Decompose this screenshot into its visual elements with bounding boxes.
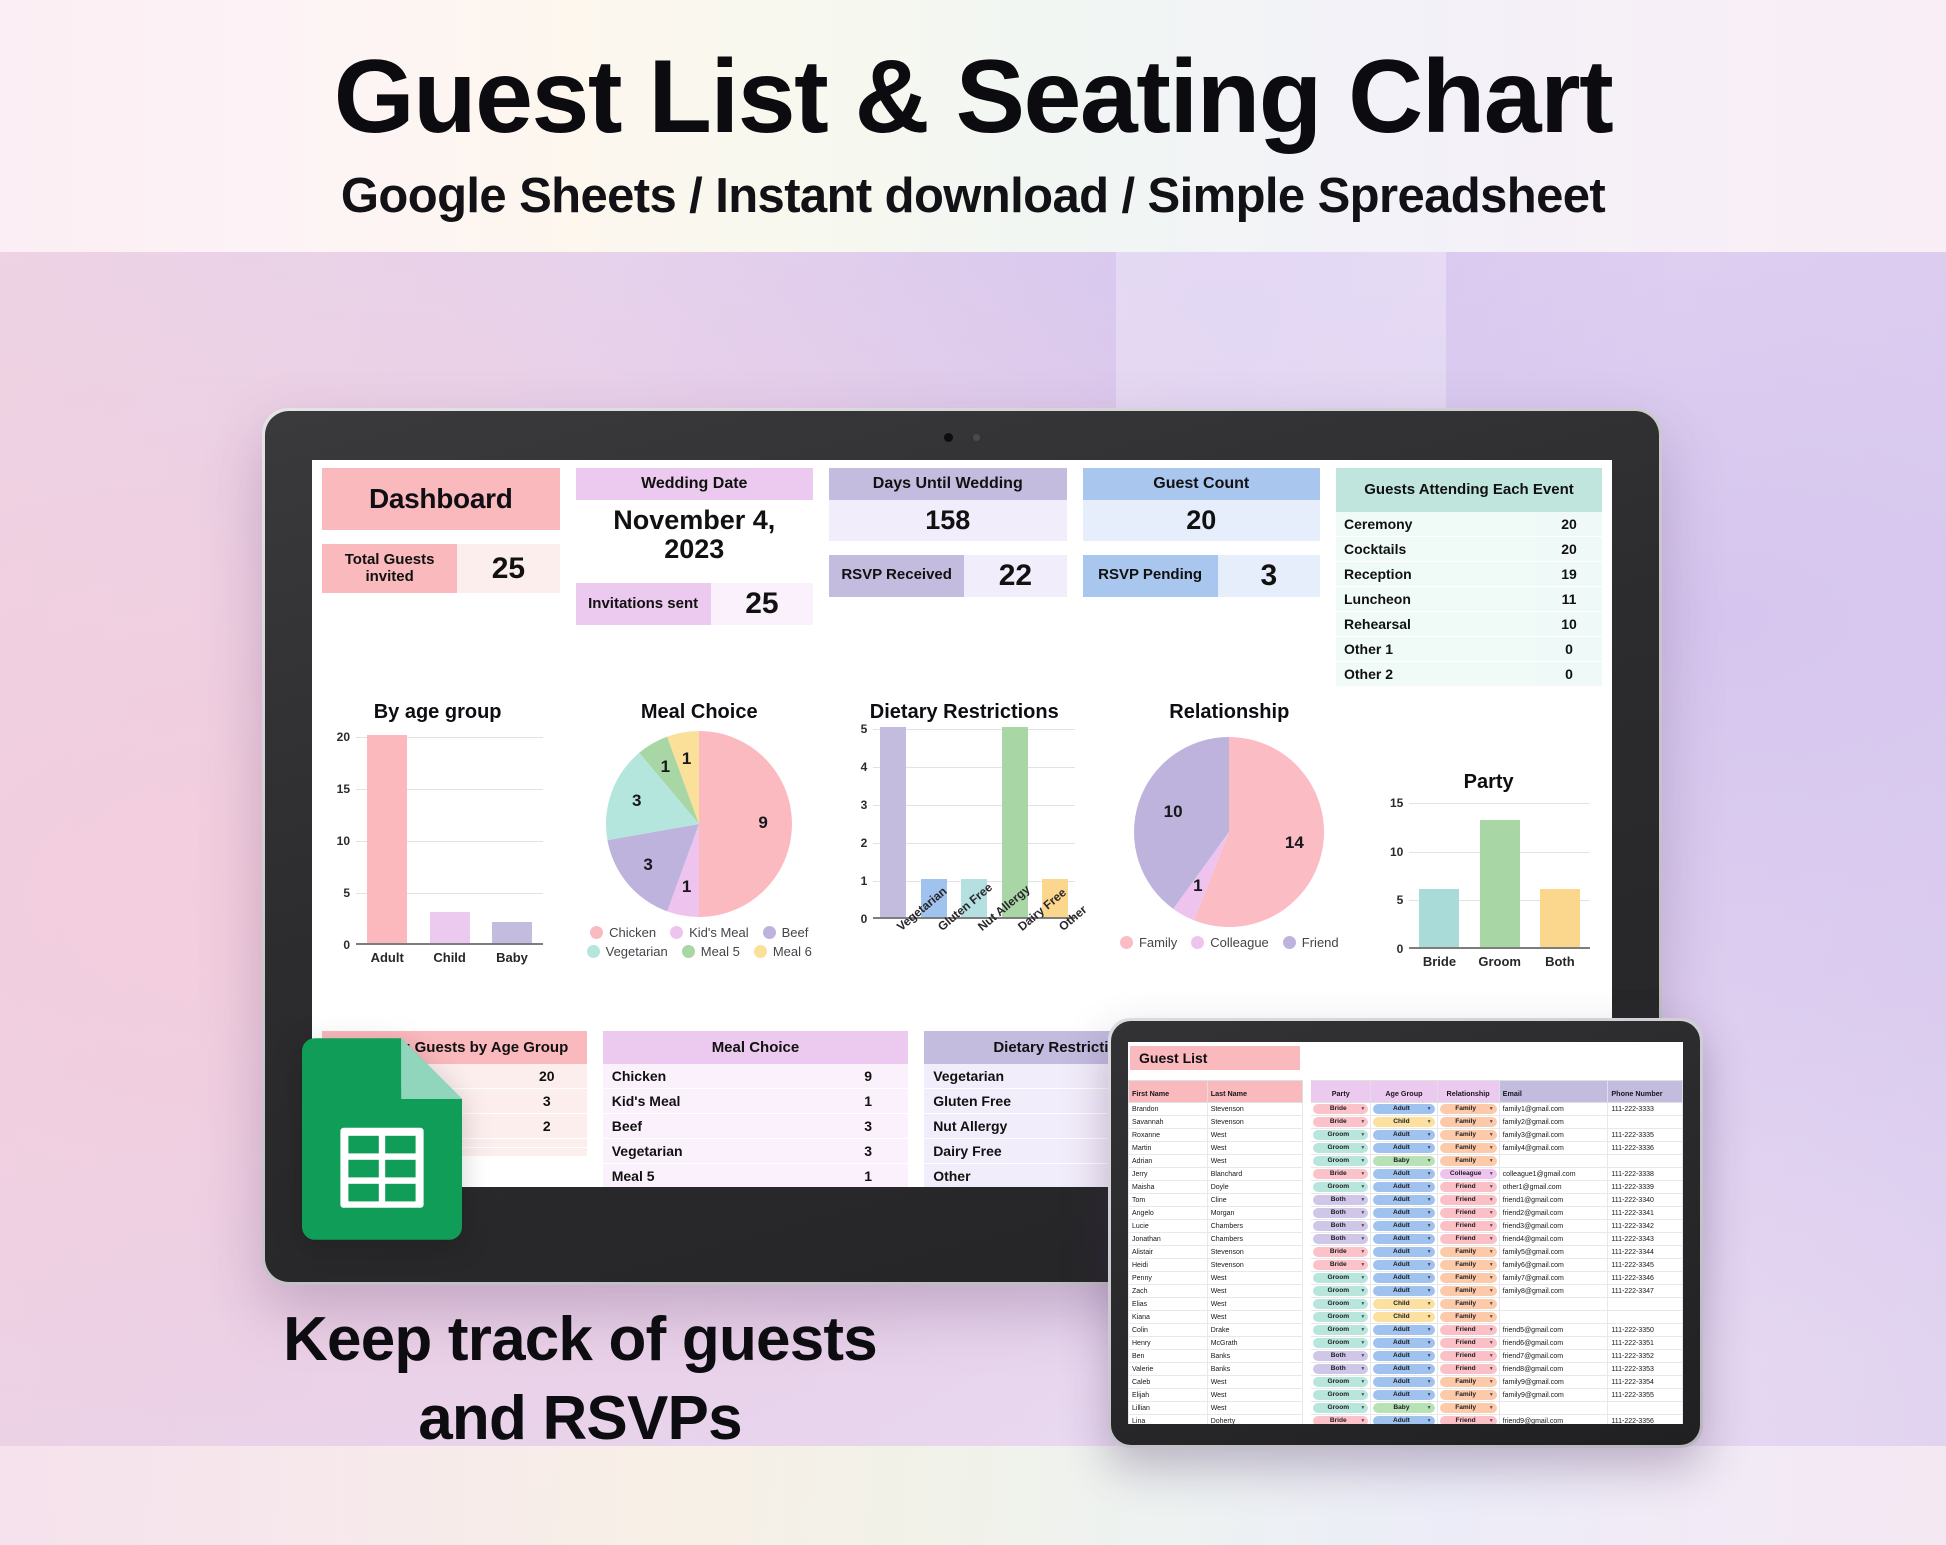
- chevron-down-icon[interactable]: ▼: [1489, 1351, 1494, 1361]
- chevron-down-icon[interactable]: ▼: [1489, 1312, 1494, 1322]
- table-cell[interactable]: 111-222-3339: [1608, 1181, 1683, 1194]
- chevron-down-icon[interactable]: ▼: [1427, 1195, 1432, 1205]
- dropdown-cell[interactable]: Groom▼: [1311, 1337, 1371, 1350]
- chevron-down-icon[interactable]: ▼: [1489, 1273, 1494, 1283]
- chevron-down-icon[interactable]: ▼: [1489, 1117, 1494, 1127]
- dropdown-chip[interactable]: Family▼: [1440, 1286, 1497, 1296]
- dropdown-chip[interactable]: Adult▼: [1373, 1273, 1434, 1283]
- chevron-down-icon[interactable]: ▼: [1360, 1286, 1365, 1296]
- table-cell[interactable]: West: [1207, 1272, 1302, 1285]
- dropdown-chip[interactable]: Adult▼: [1373, 1182, 1434, 1192]
- table-cell[interactable]: family3@gmail.com: [1499, 1129, 1608, 1142]
- dropdown-cell[interactable]: Family▼: [1437, 1259, 1499, 1272]
- dropdown-chip[interactable]: Friend▼: [1440, 1416, 1497, 1424]
- chevron-down-icon[interactable]: ▼: [1360, 1130, 1365, 1140]
- table-cell[interactable]: McGrath: [1207, 1337, 1302, 1350]
- dropdown-cell[interactable]: Both▼: [1311, 1363, 1371, 1376]
- table-row[interactable]: ValerieBanksBoth▼Adult▼Friend▼friend8@gm…: [1129, 1363, 1683, 1376]
- table-cell[interactable]: Colin: [1129, 1324, 1208, 1337]
- table-cell[interactable]: Adrian: [1129, 1155, 1208, 1168]
- dropdown-cell[interactable]: Adult▼: [1371, 1181, 1437, 1194]
- chevron-down-icon[interactable]: ▼: [1360, 1143, 1365, 1153]
- table-cell[interactable]: Brandon: [1129, 1103, 1208, 1116]
- dropdown-chip[interactable]: Family▼: [1440, 1117, 1497, 1127]
- chevron-down-icon[interactable]: ▼: [1360, 1182, 1365, 1192]
- table-cell[interactable]: 111-222-3354: [1608, 1376, 1683, 1389]
- table-cell[interactable]: Chambers: [1207, 1220, 1302, 1233]
- table-cell[interactable]: Lucie: [1129, 1220, 1208, 1233]
- chevron-down-icon[interactable]: ▼: [1427, 1325, 1432, 1335]
- dropdown-chip[interactable]: Adult▼: [1373, 1143, 1434, 1153]
- chevron-down-icon[interactable]: ▼: [1427, 1182, 1432, 1192]
- dropdown-chip[interactable]: Family▼: [1440, 1377, 1497, 1387]
- dropdown-chip[interactable]: Groom▼: [1313, 1182, 1368, 1192]
- table-cell[interactable]: Martin: [1129, 1142, 1208, 1155]
- table-cell[interactable]: Lina: [1129, 1415, 1208, 1425]
- dropdown-cell[interactable]: Child▼: [1371, 1116, 1437, 1129]
- chevron-down-icon[interactable]: ▼: [1489, 1377, 1494, 1387]
- dropdown-cell[interactable]: Friend▼: [1437, 1181, 1499, 1194]
- table-cell[interactable]: [1608, 1298, 1683, 1311]
- table-row[interactable]: MartinWestGroom▼Adult▼Family▼family4@gma…: [1129, 1142, 1683, 1155]
- table-cell[interactable]: Stevenson: [1207, 1103, 1302, 1116]
- table-cell[interactable]: Doherty: [1207, 1415, 1302, 1425]
- dropdown-chip[interactable]: Family▼: [1440, 1312, 1497, 1322]
- dropdown-cell[interactable]: Both▼: [1311, 1207, 1371, 1220]
- dropdown-chip[interactable]: Adult▼: [1373, 1286, 1434, 1296]
- chevron-down-icon[interactable]: ▼: [1489, 1416, 1494, 1424]
- table-cell[interactable]: Elias: [1129, 1298, 1208, 1311]
- table-cell[interactable]: friend9@gmail.com: [1499, 1415, 1608, 1425]
- table-cell[interactable]: 111-222-3353: [1608, 1363, 1683, 1376]
- dropdown-chip[interactable]: Adult▼: [1373, 1377, 1434, 1387]
- table-cell[interactable]: Savannah: [1129, 1116, 1208, 1129]
- dropdown-chip[interactable]: Family▼: [1440, 1104, 1497, 1114]
- dropdown-chip[interactable]: Bride▼: [1313, 1247, 1368, 1257]
- table-cell[interactable]: West: [1207, 1402, 1302, 1415]
- table-cell[interactable]: Caleb: [1129, 1376, 1208, 1389]
- chevron-down-icon[interactable]: ▼: [1427, 1351, 1432, 1361]
- chevron-down-icon[interactable]: ▼: [1427, 1117, 1432, 1127]
- chevron-down-icon[interactable]: ▼: [1360, 1234, 1365, 1244]
- table-cell[interactable]: Cline: [1207, 1194, 1302, 1207]
- dropdown-cell[interactable]: Adult▼: [1371, 1129, 1437, 1142]
- table-cell[interactable]: [1499, 1298, 1608, 1311]
- dropdown-chip[interactable]: Family▼: [1440, 1130, 1497, 1140]
- table-cell[interactable]: friend3@gmail.com: [1499, 1220, 1608, 1233]
- table-cell[interactable]: colleague1@gmail.com: [1499, 1168, 1608, 1181]
- table-row[interactable]: JonathanChambersBoth▼Adult▼Friend▼friend…: [1129, 1233, 1683, 1246]
- table-cell[interactable]: 111-222-3350: [1608, 1324, 1683, 1337]
- dropdown-cell[interactable]: Adult▼: [1371, 1415, 1437, 1425]
- dropdown-chip[interactable]: Child▼: [1373, 1312, 1434, 1322]
- table-cell[interactable]: Jonathan: [1129, 1233, 1208, 1246]
- table-row[interactable]: BenBanksBoth▼Adult▼Friend▼friend7@gmail.…: [1129, 1350, 1683, 1363]
- chevron-down-icon[interactable]: ▼: [1427, 1130, 1432, 1140]
- table-cell[interactable]: friend7@gmail.com: [1499, 1350, 1608, 1363]
- table-cell[interactable]: 111-222-3345: [1608, 1259, 1683, 1272]
- chevron-down-icon[interactable]: ▼: [1489, 1364, 1494, 1374]
- chevron-down-icon[interactable]: ▼: [1427, 1143, 1432, 1153]
- dropdown-chip[interactable]: Groom▼: [1313, 1403, 1368, 1413]
- chevron-down-icon[interactable]: ▼: [1489, 1247, 1494, 1257]
- table-cell[interactable]: friend2@gmail.com: [1499, 1207, 1608, 1220]
- dropdown-cell[interactable]: Baby▼: [1371, 1155, 1437, 1168]
- dropdown-cell[interactable]: Adult▼: [1371, 1376, 1437, 1389]
- table-cell[interactable]: 111-222-3347: [1608, 1285, 1683, 1298]
- chevron-down-icon[interactable]: ▼: [1489, 1221, 1494, 1231]
- table-cell[interactable]: West: [1207, 1389, 1302, 1402]
- column-header[interactable]: First Name: [1129, 1081, 1208, 1103]
- dropdown-chip[interactable]: Groom▼: [1313, 1299, 1368, 1309]
- dropdown-chip[interactable]: Bride▼: [1313, 1104, 1368, 1114]
- chevron-down-icon[interactable]: ▼: [1360, 1260, 1365, 1270]
- table-cell[interactable]: [1499, 1402, 1608, 1415]
- dropdown-chip[interactable]: Adult▼: [1373, 1351, 1434, 1361]
- dropdown-chip[interactable]: Baby▼: [1373, 1156, 1434, 1166]
- table-cell[interactable]: friend4@gmail.com: [1499, 1233, 1608, 1246]
- table-cell[interactable]: family4@gmail.com: [1499, 1142, 1608, 1155]
- dropdown-chip[interactable]: Adult▼: [1373, 1325, 1434, 1335]
- chevron-down-icon[interactable]: ▼: [1427, 1156, 1432, 1166]
- table-cell[interactable]: Chambers: [1207, 1233, 1302, 1246]
- chevron-down-icon[interactable]: ▼: [1427, 1247, 1432, 1257]
- dropdown-chip[interactable]: Adult▼: [1373, 1390, 1434, 1400]
- dropdown-chip[interactable]: Family▼: [1440, 1143, 1497, 1153]
- table-cell[interactable]: family5@gmail.com: [1499, 1246, 1608, 1259]
- chevron-down-icon[interactable]: ▼: [1489, 1325, 1494, 1335]
- table-cell[interactable]: Tom: [1129, 1194, 1208, 1207]
- dropdown-cell[interactable]: Family▼: [1437, 1155, 1499, 1168]
- chevron-down-icon[interactable]: ▼: [1360, 1247, 1365, 1257]
- chevron-down-icon[interactable]: ▼: [1360, 1312, 1365, 1322]
- chevron-down-icon[interactable]: ▼: [1360, 1325, 1365, 1335]
- table-cell[interactable]: 111-222-3341: [1608, 1207, 1683, 1220]
- table-cell[interactable]: 111-222-3335: [1608, 1129, 1683, 1142]
- table-cell[interactable]: [1499, 1311, 1608, 1324]
- table-row[interactable]: LucieChambersBoth▼Adult▼Friend▼friend3@g…: [1129, 1220, 1683, 1233]
- dropdown-cell[interactable]: Groom▼: [1311, 1129, 1371, 1142]
- table-cell[interactable]: Heidi: [1129, 1259, 1208, 1272]
- table-cell[interactable]: Doyle: [1207, 1181, 1302, 1194]
- table-cell[interactable]: [1608, 1116, 1683, 1129]
- dropdown-chip[interactable]: Groom▼: [1313, 1377, 1368, 1387]
- dropdown-chip[interactable]: Adult▼: [1373, 1195, 1434, 1205]
- chevron-down-icon[interactable]: ▼: [1489, 1130, 1494, 1140]
- table-row[interactable]: AlistairStevensonBride▼Adult▼Family▼fami…: [1129, 1246, 1683, 1259]
- table-cell[interactable]: 111-222-3333: [1608, 1103, 1683, 1116]
- table-cell[interactable]: 111-222-3352: [1608, 1350, 1683, 1363]
- dropdown-cell[interactable]: Groom▼: [1311, 1285, 1371, 1298]
- dropdown-cell[interactable]: Adult▼: [1371, 1285, 1437, 1298]
- dropdown-chip[interactable]: Both▼: [1313, 1221, 1368, 1231]
- column-header[interactable]: Relationship: [1437, 1081, 1499, 1103]
- chevron-down-icon[interactable]: ▼: [1427, 1299, 1432, 1309]
- table-cell[interactable]: Kiana: [1129, 1311, 1208, 1324]
- dropdown-cell[interactable]: Adult▼: [1371, 1220, 1437, 1233]
- dropdown-cell[interactable]: Adult▼: [1371, 1233, 1437, 1246]
- column-header[interactable]: Email: [1499, 1081, 1608, 1103]
- chevron-down-icon[interactable]: ▼: [1489, 1143, 1494, 1153]
- dropdown-cell[interactable]: Friend▼: [1437, 1207, 1499, 1220]
- table-cell[interactable]: Elijah: [1129, 1389, 1208, 1402]
- table-row[interactable]: JerryBlanchardBride▼Adult▼Colleague▼coll…: [1129, 1168, 1683, 1181]
- table-cell[interactable]: Banks: [1207, 1363, 1302, 1376]
- table-cell[interactable]: 111-222-3356: [1608, 1415, 1683, 1425]
- chevron-down-icon[interactable]: ▼: [1360, 1299, 1365, 1309]
- dropdown-chip[interactable]: Colleague▼: [1440, 1169, 1497, 1179]
- dropdown-cell[interactable]: Family▼: [1437, 1246, 1499, 1259]
- table-cell[interactable]: West: [1207, 1285, 1302, 1298]
- dropdown-cell[interactable]: Adult▼: [1371, 1103, 1437, 1116]
- dropdown-cell[interactable]: Groom▼: [1311, 1389, 1371, 1402]
- dropdown-cell[interactable]: Adult▼: [1371, 1350, 1437, 1363]
- table-row[interactable]: AdrianWestGroom▼Baby▼Family▼: [1129, 1155, 1683, 1168]
- table-cell[interactable]: family7@gmail.com: [1499, 1272, 1608, 1285]
- chevron-down-icon[interactable]: ▼: [1360, 1377, 1365, 1387]
- dropdown-chip[interactable]: Adult▼: [1373, 1169, 1434, 1179]
- chevron-down-icon[interactable]: ▼: [1489, 1403, 1494, 1413]
- dropdown-cell[interactable]: Groom▼: [1311, 1142, 1371, 1155]
- dropdown-cell[interactable]: Groom▼: [1311, 1402, 1371, 1415]
- dropdown-cell[interactable]: Adult▼: [1371, 1142, 1437, 1155]
- dropdown-chip[interactable]: Groom▼: [1313, 1338, 1368, 1348]
- dropdown-cell[interactable]: Family▼: [1437, 1142, 1499, 1155]
- table-cell[interactable]: family6@gmail.com: [1499, 1259, 1608, 1272]
- dropdown-cell[interactable]: Adult▼: [1371, 1272, 1437, 1285]
- dropdown-chip[interactable]: Both▼: [1313, 1208, 1368, 1218]
- dropdown-chip[interactable]: Bride▼: [1313, 1260, 1368, 1270]
- dropdown-chip[interactable]: Groom▼: [1313, 1273, 1368, 1283]
- dropdown-chip[interactable]: Adult▼: [1373, 1247, 1434, 1257]
- table-cell[interactable]: Banks: [1207, 1350, 1302, 1363]
- table-row[interactable]: TomClineBoth▼Adult▼Friend▼friend1@gmail.…: [1129, 1194, 1683, 1207]
- dropdown-chip[interactable]: Friend▼: [1440, 1234, 1497, 1244]
- dropdown-cell[interactable]: Groom▼: [1311, 1272, 1371, 1285]
- chevron-down-icon[interactable]: ▼: [1489, 1208, 1494, 1218]
- dropdown-cell[interactable]: Bride▼: [1311, 1103, 1371, 1116]
- dropdown-chip[interactable]: Family▼: [1440, 1390, 1497, 1400]
- dropdown-cell[interactable]: Family▼: [1437, 1285, 1499, 1298]
- table-cell[interactable]: Valerie: [1129, 1363, 1208, 1376]
- table-cell[interactable]: Lillian: [1129, 1402, 1208, 1415]
- table-cell[interactable]: Drake: [1207, 1324, 1302, 1337]
- table-cell[interactable]: West: [1207, 1376, 1302, 1389]
- dropdown-chip[interactable]: Friend▼: [1440, 1338, 1497, 1348]
- dropdown-cell[interactable]: Both▼: [1311, 1220, 1371, 1233]
- table-row[interactable]: HeidiStevensonBride▼Adult▼Family▼family6…: [1129, 1259, 1683, 1272]
- dropdown-chip[interactable]: Friend▼: [1440, 1325, 1497, 1335]
- chevron-down-icon[interactable]: ▼: [1427, 1104, 1432, 1114]
- chevron-down-icon[interactable]: ▼: [1427, 1364, 1432, 1374]
- table-row[interactable]: ColinDrakeGroom▼Adult▼Friend▼friend5@gma…: [1129, 1324, 1683, 1337]
- chevron-down-icon[interactable]: ▼: [1427, 1221, 1432, 1231]
- dropdown-cell[interactable]: Adult▼: [1371, 1324, 1437, 1337]
- dropdown-chip[interactable]: Adult▼: [1373, 1234, 1434, 1244]
- chevron-down-icon[interactable]: ▼: [1427, 1169, 1432, 1179]
- dropdown-cell[interactable]: Adult▼: [1371, 1246, 1437, 1259]
- chevron-down-icon[interactable]: ▼: [1489, 1195, 1494, 1205]
- chevron-down-icon[interactable]: ▼: [1489, 1156, 1494, 1166]
- table-row[interactable]: LinaDohertyBride▼Adult▼Friend▼friend9@gm…: [1129, 1415, 1683, 1425]
- table-cell[interactable]: [1499, 1155, 1608, 1168]
- dropdown-chip[interactable]: Bride▼: [1313, 1169, 1368, 1179]
- table-cell[interactable]: West: [1207, 1298, 1302, 1311]
- dropdown-cell[interactable]: Bride▼: [1311, 1116, 1371, 1129]
- chevron-down-icon[interactable]: ▼: [1360, 1338, 1365, 1348]
- chevron-down-icon[interactable]: ▼: [1360, 1390, 1365, 1400]
- chevron-down-icon[interactable]: ▼: [1360, 1403, 1365, 1413]
- dropdown-cell[interactable]: Adult▼: [1371, 1194, 1437, 1207]
- dropdown-chip[interactable]: Adult▼: [1373, 1221, 1434, 1231]
- chevron-down-icon[interactable]: ▼: [1427, 1286, 1432, 1296]
- dropdown-chip[interactable]: Groom▼: [1313, 1143, 1368, 1153]
- table-row[interactable]: HenryMcGrathGroom▼Adult▼Friend▼friend6@g…: [1129, 1337, 1683, 1350]
- dropdown-cell[interactable]: Family▼: [1437, 1376, 1499, 1389]
- table-cell[interactable]: Morgan: [1207, 1207, 1302, 1220]
- dropdown-cell[interactable]: Baby▼: [1371, 1402, 1437, 1415]
- table-cell[interactable]: [1608, 1402, 1683, 1415]
- chevron-down-icon[interactable]: ▼: [1489, 1169, 1494, 1179]
- table-cell[interactable]: West: [1207, 1155, 1302, 1168]
- table-cell[interactable]: Zach: [1129, 1285, 1208, 1298]
- dropdown-chip[interactable]: Baby▼: [1373, 1403, 1434, 1413]
- table-cell[interactable]: family2@gmail.com: [1499, 1116, 1608, 1129]
- chevron-down-icon[interactable]: ▼: [1360, 1104, 1365, 1114]
- dropdown-chip[interactable]: Child▼: [1373, 1117, 1434, 1127]
- table-row[interactable]: RoxanneWestGroom▼Adult▼Family▼family3@gm…: [1129, 1129, 1683, 1142]
- chevron-down-icon[interactable]: ▼: [1360, 1117, 1365, 1127]
- dropdown-chip[interactable]: Family▼: [1440, 1273, 1497, 1283]
- dropdown-cell[interactable]: Both▼: [1311, 1350, 1371, 1363]
- dropdown-chip[interactable]: Adult▼: [1373, 1208, 1434, 1218]
- dropdown-chip[interactable]: Family▼: [1440, 1260, 1497, 1270]
- table-cell[interactable]: [1608, 1155, 1683, 1168]
- chevron-down-icon[interactable]: ▼: [1360, 1273, 1365, 1283]
- chevron-down-icon[interactable]: ▼: [1360, 1416, 1365, 1424]
- table-cell[interactable]: family1@gmail.com: [1499, 1103, 1608, 1116]
- dropdown-chip[interactable]: Friend▼: [1440, 1221, 1497, 1231]
- dropdown-chip[interactable]: Adult▼: [1373, 1364, 1434, 1374]
- dropdown-cell[interactable]: Friend▼: [1437, 1324, 1499, 1337]
- table-row[interactable]: ElijahWestGroom▼Adult▼Family▼family9@gma…: [1129, 1389, 1683, 1402]
- dropdown-chip[interactable]: Family▼: [1440, 1247, 1497, 1257]
- dropdown-chip[interactable]: Friend▼: [1440, 1182, 1497, 1192]
- chevron-down-icon[interactable]: ▼: [1360, 1195, 1365, 1205]
- dropdown-cell[interactable]: Friend▼: [1437, 1415, 1499, 1425]
- chevron-down-icon[interactable]: ▼: [1427, 1338, 1432, 1348]
- dropdown-chip[interactable]: Adult▼: [1373, 1104, 1434, 1114]
- dropdown-cell[interactable]: Groom▼: [1311, 1324, 1371, 1337]
- dropdown-cell[interactable]: Family▼: [1437, 1389, 1499, 1402]
- dropdown-cell[interactable]: Family▼: [1437, 1129, 1499, 1142]
- dropdown-chip[interactable]: Bride▼: [1313, 1416, 1368, 1424]
- table-cell[interactable]: 111-222-3355: [1608, 1389, 1683, 1402]
- dropdown-cell[interactable]: Adult▼: [1371, 1207, 1437, 1220]
- dropdown-chip[interactable]: Adult▼: [1373, 1416, 1434, 1424]
- chevron-down-icon[interactable]: ▼: [1360, 1156, 1365, 1166]
- table-row[interactable]: MaishaDoyleGroom▼Adult▼Friend▼other1@gma…: [1129, 1181, 1683, 1194]
- dropdown-chip[interactable]: Both▼: [1313, 1234, 1368, 1244]
- dropdown-cell[interactable]: Friend▼: [1437, 1363, 1499, 1376]
- chevron-down-icon[interactable]: ▼: [1360, 1364, 1365, 1374]
- chevron-down-icon[interactable]: ▼: [1427, 1403, 1432, 1413]
- chevron-down-icon[interactable]: ▼: [1489, 1234, 1494, 1244]
- table-cell[interactable]: Ben: [1129, 1350, 1208, 1363]
- dropdown-chip[interactable]: Adult▼: [1373, 1130, 1434, 1140]
- dropdown-chip[interactable]: Friend▼: [1440, 1364, 1497, 1374]
- chevron-down-icon[interactable]: ▼: [1489, 1182, 1494, 1192]
- table-row[interactable]: AngeloMorganBoth▼Adult▼Friend▼friend2@gm…: [1129, 1207, 1683, 1220]
- chevron-down-icon[interactable]: ▼: [1489, 1286, 1494, 1296]
- chevron-down-icon[interactable]: ▼: [1360, 1351, 1365, 1361]
- table-row[interactable]: SavannahStevensonBride▼Child▼Family▼fami…: [1129, 1116, 1683, 1129]
- dropdown-cell[interactable]: Bride▼: [1311, 1415, 1371, 1425]
- table-cell[interactable]: 111-222-3344: [1608, 1246, 1683, 1259]
- dropdown-cell[interactable]: Family▼: [1437, 1311, 1499, 1324]
- table-cell[interactable]: Jerry: [1129, 1168, 1208, 1181]
- dropdown-cell[interactable]: Groom▼: [1311, 1311, 1371, 1324]
- chevron-down-icon[interactable]: ▼: [1427, 1208, 1432, 1218]
- table-cell[interactable]: Maisha: [1129, 1181, 1208, 1194]
- dropdown-cell[interactable]: Child▼: [1371, 1311, 1437, 1324]
- dropdown-cell[interactable]: Child▼: [1371, 1298, 1437, 1311]
- dropdown-chip[interactable]: Friend▼: [1440, 1208, 1497, 1218]
- dropdown-cell[interactable]: Adult▼: [1371, 1168, 1437, 1181]
- table-cell[interactable]: family9@gmail.com: [1499, 1376, 1608, 1389]
- table-cell[interactable]: 111-222-3351: [1608, 1337, 1683, 1350]
- chevron-down-icon[interactable]: ▼: [1489, 1260, 1494, 1270]
- table-row[interactable]: PennyWestGroom▼Adult▼Family▼family7@gmai…: [1129, 1272, 1683, 1285]
- dropdown-chip[interactable]: Family▼: [1440, 1156, 1497, 1166]
- dropdown-cell[interactable]: Adult▼: [1371, 1337, 1437, 1350]
- table-cell[interactable]: friend8@gmail.com: [1499, 1363, 1608, 1376]
- chevron-down-icon[interactable]: ▼: [1489, 1299, 1494, 1309]
- dropdown-cell[interactable]: Adult▼: [1371, 1389, 1437, 1402]
- dropdown-chip[interactable]: Friend▼: [1440, 1351, 1497, 1361]
- table-cell[interactable]: West: [1207, 1311, 1302, 1324]
- dropdown-chip[interactable]: Family▼: [1440, 1299, 1497, 1309]
- chevron-down-icon[interactable]: ▼: [1360, 1221, 1365, 1231]
- dropdown-chip[interactable]: Groom▼: [1313, 1325, 1368, 1335]
- table-cell[interactable]: other1@gmail.com: [1499, 1181, 1608, 1194]
- dropdown-chip[interactable]: Groom▼: [1313, 1312, 1368, 1322]
- dropdown-cell[interactable]: Family▼: [1437, 1402, 1499, 1415]
- table-row[interactable]: CalebWestGroom▼Adult▼Family▼family9@gmai…: [1129, 1376, 1683, 1389]
- chevron-down-icon[interactable]: ▼: [1427, 1377, 1432, 1387]
- chevron-down-icon[interactable]: ▼: [1360, 1208, 1365, 1218]
- dropdown-chip[interactable]: Groom▼: [1313, 1156, 1368, 1166]
- dropdown-chip[interactable]: Adult▼: [1373, 1260, 1434, 1270]
- dropdown-chip[interactable]: Both▼: [1313, 1195, 1368, 1205]
- chevron-down-icon[interactable]: ▼: [1489, 1338, 1494, 1348]
- table-cell[interactable]: 111-222-3346: [1608, 1272, 1683, 1285]
- table-row[interactable]: KianaWestGroom▼Child▼Family▼: [1129, 1311, 1683, 1324]
- dropdown-chip[interactable]: Friend▼: [1440, 1195, 1497, 1205]
- table-cell[interactable]: Stevenson: [1207, 1246, 1302, 1259]
- dropdown-chip[interactable]: Both▼: [1313, 1364, 1368, 1374]
- chevron-down-icon[interactable]: ▼: [1427, 1234, 1432, 1244]
- dropdown-chip[interactable]: Both▼: [1313, 1351, 1368, 1361]
- dropdown-chip[interactable]: Child▼: [1373, 1299, 1434, 1309]
- dropdown-chip[interactable]: Groom▼: [1313, 1286, 1368, 1296]
- column-header[interactable]: Age Group: [1371, 1081, 1437, 1103]
- dropdown-cell[interactable]: Bride▼: [1311, 1259, 1371, 1272]
- table-cell[interactable]: Alistair: [1129, 1246, 1208, 1259]
- dropdown-chip[interactable]: Family▼: [1440, 1403, 1497, 1413]
- table-cell[interactable]: Blanchard: [1207, 1168, 1302, 1181]
- chevron-down-icon[interactable]: ▼: [1427, 1312, 1432, 1322]
